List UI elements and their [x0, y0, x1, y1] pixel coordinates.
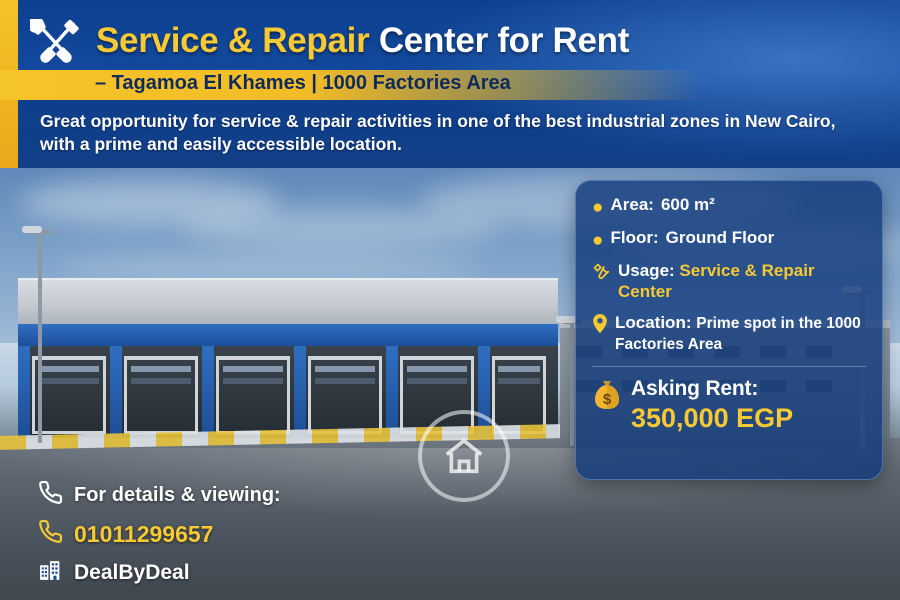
money-bag-icon: $: [592, 379, 622, 415]
brand-name: DealByDeal: [74, 561, 190, 585]
contact-lead-row: For details & viewing:: [38, 480, 508, 510]
subtitle: – Tagamoa El Khames | 1000 Factories Are…: [95, 72, 511, 95]
card-divider: [592, 366, 866, 367]
title-row: Service & Repair Center for Rent: [30, 16, 880, 66]
spec-floor-label: Floor:: [610, 228, 658, 249]
spec-location-text: Location: Prime spot in the 1000 Factori…: [615, 313, 866, 355]
bullet-dot-icon: ●: [592, 198, 603, 217]
asking-rent-text: Asking Rent: 350,000 EGP: [631, 377, 793, 434]
asking-rent-label: Asking Rent:: [631, 377, 793, 401]
spec-location-label: Location:: [615, 313, 692, 332]
wrench-icon: [592, 262, 611, 287]
contact-phone-number[interactable]: 01011299657: [74, 521, 213, 548]
map-pin-icon: [592, 314, 608, 339]
asking-rent-block: $ Asking Rent: 350,000 EGP: [592, 377, 866, 434]
details-card: ● Area: 600 m² ● Floor: Ground Floor Usa…: [575, 180, 883, 480]
lamp-post: [38, 228, 42, 443]
lamp-head: [556, 316, 576, 323]
page-title-highlight: Service & Repair: [96, 21, 369, 60]
phone-icon: [38, 480, 63, 510]
spec-usage: Usage: Service & Repair Center: [592, 261, 866, 302]
poster-header: Service & Repair Center for Rent – Tagam…: [0, 0, 900, 168]
contact-phone-row[interactable]: 01011299657: [38, 519, 508, 549]
brand-row: DealByDeal: [38, 558, 508, 588]
phone-icon: [38, 519, 63, 549]
building-upper-facade: [18, 278, 558, 324]
lamp-post: [570, 318, 574, 446]
buildings-icon: [38, 558, 63, 588]
spec-usage-label: Usage:: [618, 261, 675, 280]
asking-rent-amount: 350,000 EGP: [631, 403, 793, 434]
bullet-dot-icon: ●: [592, 231, 603, 250]
property-ad-poster: Service & Repair Center for Rent – Tagam…: [0, 0, 900, 600]
wrench-screwdriver-icon: [30, 19, 82, 63]
page-title: Service & Repair Center for Rent: [96, 21, 629, 61]
page-title-rest: Center for Rent: [369, 21, 629, 60]
spec-location: Location: Prime spot in the 1000 Factori…: [592, 313, 866, 355]
spec-area: ● Area: 600 m²: [592, 195, 866, 217]
contact-lead-text: For details & viewing:: [74, 484, 281, 507]
spec-floor-value: Ground Floor: [666, 228, 775, 249]
lamp-head: [22, 226, 42, 233]
description-text: Great opportunity for service & repair a…: [40, 110, 850, 156]
svg-text:$: $: [603, 391, 612, 408]
spec-floor: ● Floor: Ground Floor: [592, 228, 866, 250]
spec-area-value: 600 m²: [661, 195, 715, 216]
building-blue-stripe: [18, 324, 558, 346]
contact-block: For details & viewing: 01011299657: [38, 480, 508, 597]
spec-usage-text: Usage: Service & Repair Center: [618, 261, 866, 302]
spec-area-label: Area:: [610, 195, 653, 216]
